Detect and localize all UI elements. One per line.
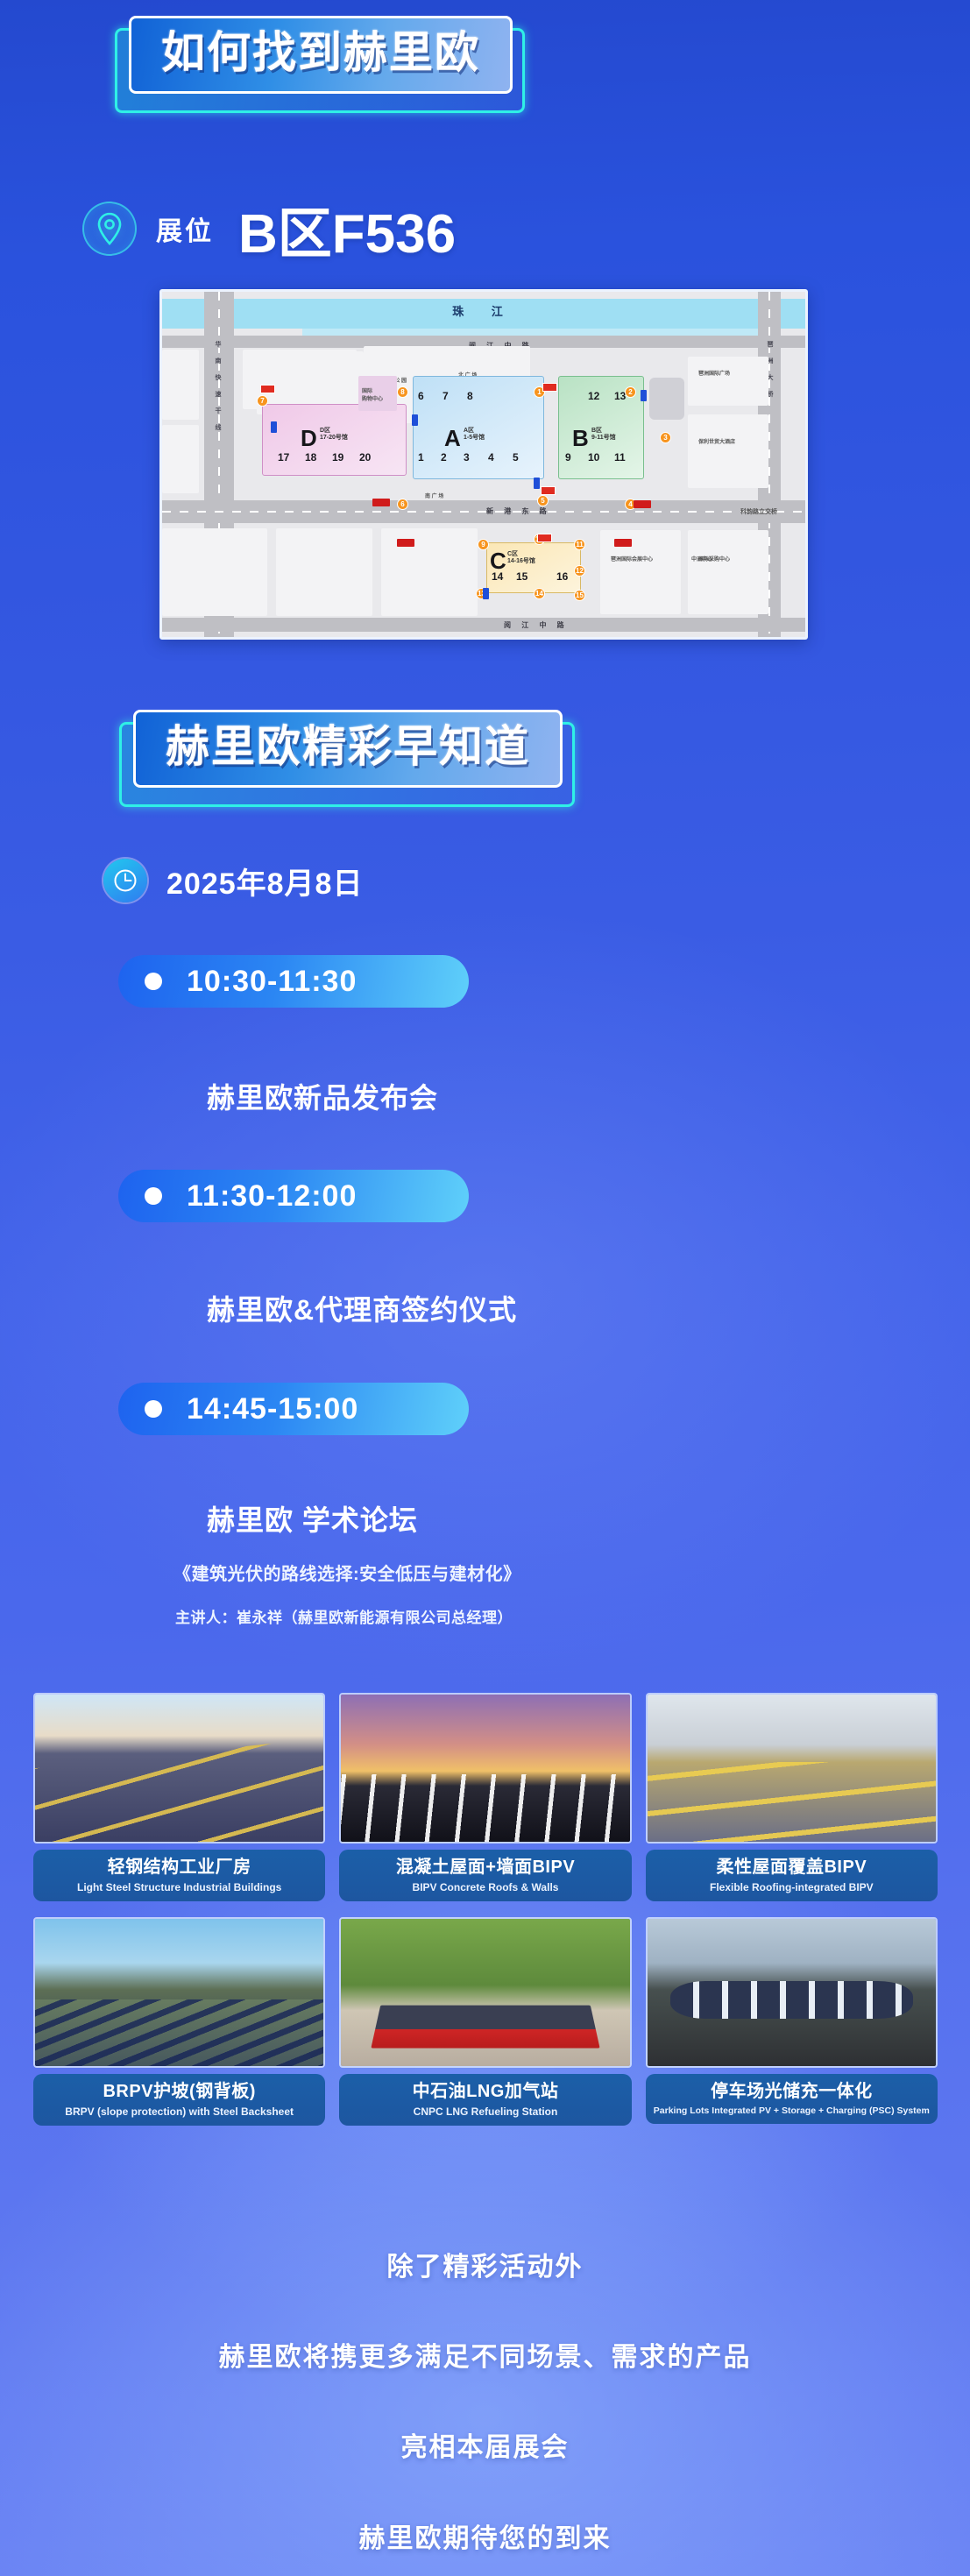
- map-label-south-road: 阅 江 中 路: [504, 620, 569, 630]
- map-block: [688, 414, 768, 488]
- map-label-overpass: 科韵路立交桥: [740, 507, 777, 516]
- section-heading-find-us: 如何找到赫里欧: [129, 16, 513, 94]
- map-marker[interactable]: 15: [574, 590, 585, 601]
- closing-line-2: 赫里欧将携更多满足不同场景、需求的产品: [0, 2335, 970, 2374]
- product-name-en: CNPC LNG Refueling Station: [344, 2105, 626, 2118]
- map-block: [381, 528, 478, 616]
- closing-line-4: 赫里欧期待您的到来: [0, 2516, 970, 2555]
- map-marker[interactable]: 11: [574, 539, 585, 550]
- map-poi-label: 保利世贸大酒店: [698, 437, 735, 445]
- map-marker[interactable]: 9: [478, 539, 489, 550]
- map-hall-num: 15: [516, 570, 527, 583]
- map-hall-a-letter: A: [444, 425, 461, 452]
- product-caption: 混凝土屋面+墙面BIPV BIPV Concrete Roofs & Walls: [339, 1850, 631, 1901]
- map-road-mid-dash: [162, 511, 808, 513]
- map-flag-icon: [542, 383, 557, 392]
- closing-line-3: 亮相本届展会: [0, 2425, 970, 2464]
- map-poi-label: 琶洲国际广场: [698, 369, 730, 377]
- map-hall-num: 3: [464, 451, 470, 464]
- product-grid: 轻钢结构工业厂房 Light Steel Structure Industria…: [33, 1693, 938, 2126]
- slope-protection-pv-photo: [33, 1917, 325, 2068]
- product-caption: 柔性屋面覆盖BIPV Flexible Roofing-integrated B…: [646, 1850, 938, 1901]
- map-marker[interactable]: 14: [534, 588, 545, 599]
- product-name-en: Flexible Roofing-integrated BIPV: [651, 1881, 932, 1893]
- map-metro-icon: [534, 478, 540, 489]
- map-hall-num: 10: [588, 451, 599, 464]
- slot-bullet-icon: [145, 973, 162, 990]
- map-hall-num: 19: [332, 451, 343, 464]
- map-hall-num: 14: [492, 570, 503, 583]
- map-poi-label: 琶洲国际会展中心: [611, 555, 653, 563]
- map-marker[interactable]: 8: [397, 386, 408, 398]
- location-pin-icon: [82, 202, 137, 256]
- product-name-en: Parking Lots Integrated PV + Storage + C…: [651, 2105, 932, 2116]
- map-poi-label: 国际购物中心: [362, 386, 383, 402]
- map-hall-d-letter: D: [301, 425, 317, 452]
- map-hall-num: 5: [513, 451, 519, 464]
- section2-heading-text: 赫里欧精彩早知道: [166, 721, 530, 773]
- slot-title: 赫里欧&代理商签约仪式: [207, 1288, 517, 1328]
- schedule-slot-2[interactable]: 11:30-12:00: [118, 1170, 469, 1222]
- product-caption: 中石油LNG加气站 CNPC LNG Refueling Station: [339, 2074, 631, 2126]
- map-block: [276, 528, 372, 616]
- map-hall-num: 20: [359, 451, 371, 464]
- parking-psc-photo: [646, 1917, 938, 2068]
- schedule-slot-1[interactable]: 10:30-11:30: [118, 955, 469, 1008]
- flexible-roof-bipv-photo: [646, 1693, 938, 1844]
- forum-speaker: 主讲人：崔永祥（赫里欧新能源有限公司总经理）: [175, 1605, 513, 1627]
- map-block: [162, 425, 199, 493]
- plaque-body: 如何找到赫里欧: [129, 16, 513, 94]
- map-metro-icon: [483, 588, 489, 599]
- map-marker[interactable]: 6: [397, 499, 408, 510]
- product-caption: 轻钢结构工业厂房 Light Steel Structure Industria…: [33, 1850, 325, 1901]
- map-metro-icon: [271, 421, 277, 433]
- product-card[interactable]: BRPV护坡(钢背板) BRPV (slope protection) with…: [33, 1917, 325, 2126]
- map-hall-num: 17: [278, 451, 289, 464]
- map-transit-badge: [372, 499, 390, 506]
- product-card[interactable]: 柔性屋面覆盖BIPV Flexible Roofing-integrated B…: [646, 1693, 938, 1901]
- concrete-roof-bipv-photo: [339, 1693, 631, 1844]
- map-hall-num: 9: [565, 451, 571, 464]
- forum-topic: 《建筑光伏的路线选择:安全低压与建材化》: [173, 1560, 521, 1585]
- product-name-en: BRPV (slope protection) with Steel Backs…: [39, 2105, 320, 2118]
- steel-roof-pv-photo: [33, 1693, 325, 1844]
- map-road-south: [162, 618, 808, 632]
- map-hall-num: 6: [418, 390, 424, 402]
- map-poi-label: 南 广 场: [425, 492, 443, 499]
- product-card[interactable]: 停车场光储充一体化 Parking Lots Integrated PV + S…: [646, 1917, 938, 2126]
- map-marker[interactable]: 3: [660, 432, 671, 443]
- map-hall-b-letter: B: [572, 425, 589, 452]
- booth-code: B区F536: [238, 189, 456, 268]
- map-metro-icon: [412, 414, 418, 426]
- product-caption: 停车场光储充一体化 Parking Lots Integrated PV + S…: [646, 2074, 938, 2124]
- map-hall-num: 12: [588, 390, 599, 402]
- map-block: [688, 530, 768, 614]
- map-hall-a-sub: A区1-5号馆: [464, 428, 485, 442]
- booth-label: 展位: [156, 209, 214, 248]
- map-marker[interactable]: 5: [537, 495, 549, 506]
- slot-time: 10:30-11:30: [187, 965, 357, 999]
- map-hall-num: 7: [443, 390, 449, 402]
- map-transit-badge: [634, 500, 651, 508]
- slot-bullet-icon: [145, 1187, 162, 1205]
- map-hall-b-sub: B区9-11号馆: [591, 428, 616, 442]
- map-river-label: 珠 江: [162, 302, 805, 319]
- product-name-cn: 柔性屋面覆盖BIPV: [651, 1857, 932, 1878]
- slot-bullet-icon: [145, 1400, 162, 1418]
- map-hall-c-sub: C区14-16号馆: [507, 551, 535, 565]
- map-poi-label: 中洲中心: [691, 555, 712, 563]
- slot-time: 14:45-15:00: [187, 1392, 358, 1426]
- map-block: [688, 357, 768, 406]
- product-name-cn: BRPV护坡(钢背板): [39, 2081, 320, 2102]
- map-hall-num: 16: [556, 570, 568, 583]
- event-date: 2025年8月8日: [166, 860, 363, 902]
- map-label-mid-road: 新 港 东 路: [486, 506, 551, 516]
- map-marker[interactable]: 2: [625, 386, 636, 398]
- map-hall-d-sub: D区17-20号馆: [320, 428, 348, 442]
- map-block: [162, 528, 267, 616]
- product-name-cn: 停车场光储充一体化: [651, 2081, 932, 2102]
- map-hall-num: 4: [488, 451, 494, 464]
- slot-time: 11:30-12:00: [187, 1179, 357, 1214]
- product-name-en: BIPV Concrete Roofs & Walls: [344, 1881, 626, 1893]
- product-name-cn: 轻钢结构工业厂房: [39, 1857, 320, 1878]
- map-flag-icon: [541, 486, 556, 495]
- map-metro-icon: [641, 390, 647, 401]
- map-marker[interactable]: 12: [574, 565, 585, 577]
- map-transit-badge: [614, 539, 632, 547]
- map-block: [162, 350, 199, 420]
- clock-icon: [103, 859, 147, 902]
- map-flag-icon: [537, 534, 552, 542]
- map-hall-num: 8: [467, 390, 473, 402]
- map-hall-b-annex: [649, 378, 684, 420]
- map-hall-num: 18: [305, 451, 316, 464]
- map-hall-num: 11: [614, 451, 626, 464]
- map-hall-num: 2: [441, 451, 447, 464]
- schedule-slot-3[interactable]: 14:45-15:00: [118, 1383, 469, 1435]
- product-name-cn: 混凝土屋面+墙面BIPV: [344, 1857, 626, 1878]
- booth-info-row: 展位 B区F536: [82, 189, 456, 268]
- lng-station-pv-photo: [339, 1917, 631, 2068]
- product-name-cn: 中石油LNG加气站: [344, 2081, 626, 2102]
- section-heading-schedule: 赫里欧精彩早知道: [133, 710, 563, 788]
- map-transit-badge: [397, 539, 414, 547]
- product-card[interactable]: 混凝土屋面+墙面BIPV BIPV Concrete Roofs & Walls: [339, 1693, 631, 1901]
- map-marker[interactable]: 7: [257, 395, 268, 407]
- map-canvas: 珠 江 华 南 快 速 干 线 琶 洲 大 桥 阅 江 中 路 新 港 东 路 …: [162, 292, 805, 637]
- map-block: [600, 530, 681, 614]
- product-card[interactable]: 轻钢结构工业厂房 Light Steel Structure Industria…: [33, 1693, 325, 1901]
- map-hall-num: 1: [418, 451, 424, 464]
- map-flag-icon: [260, 385, 275, 393]
- slot-title: 赫里欧新品发布会: [207, 1076, 438, 1116]
- venue-map[interactable]: 珠 江 华 南 快 速 干 线 琶 洲 大 桥 阅 江 中 路 新 港 东 路 …: [159, 289, 808, 640]
- plaque-body: 赫里欧精彩早知道: [133, 710, 563, 788]
- product-card[interactable]: 中石油LNG加气站 CNPC LNG Refueling Station: [339, 1917, 631, 2126]
- product-caption: BRPV护坡(钢背板) BRPV (slope protection) with…: [33, 2074, 325, 2126]
- section1-heading-text: 如何找到赫里欧: [161, 27, 480, 79]
- closing-line-1: 除了精彩活动外: [0, 2245, 970, 2283]
- event-date-row: 2025年8月8日: [103, 859, 363, 902]
- map-label-west-road: 华 南 快 速 干 线: [213, 341, 222, 435]
- product-name-en: Light Steel Structure Industrial Buildin…: [39, 1881, 320, 1893]
- slot-title: 赫里欧 学术论坛: [207, 1498, 418, 1539]
